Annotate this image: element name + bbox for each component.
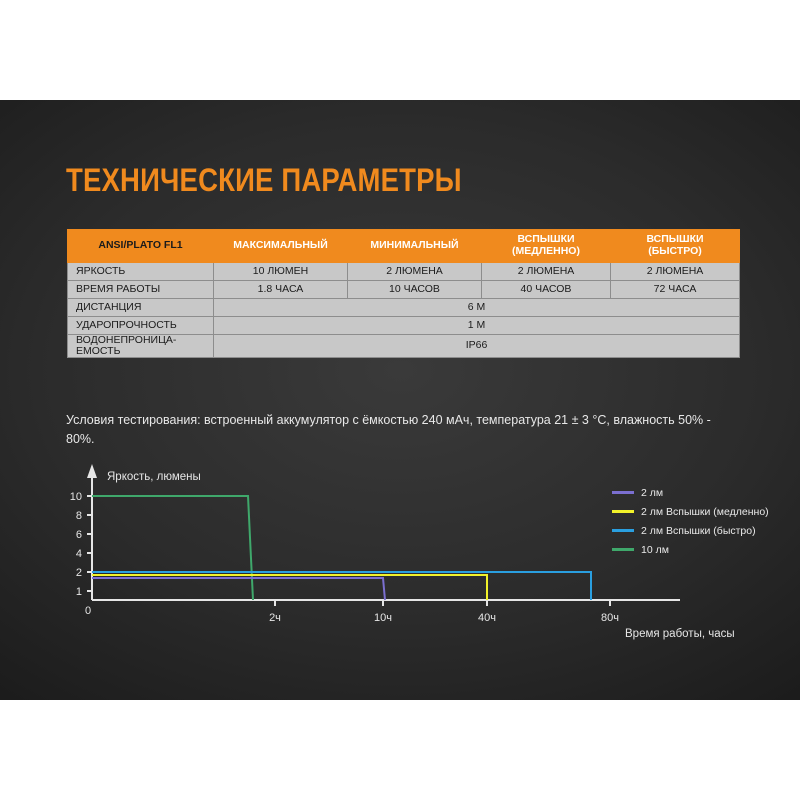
cell-runtime-min: 10 ЧАСОВ (348, 281, 482, 299)
cell-distance-value: 6 М (214, 299, 740, 317)
spec-table: ANSI/PLATO FL1 МАКСИМАЛЬНЫЙ МИНИМАЛЬНЫЙ … (67, 229, 740, 358)
legend-item-flash-fast: 2 лм Вспышки (быстро) (612, 522, 797, 539)
column-header-max-label: МАКСИМАЛЬНЫЙ (233, 239, 328, 251)
table-row: ВОДОНЕПРОНИЦА- ЕМОСТЬ IP66 (68, 335, 740, 358)
legend-swatch-icon (612, 510, 634, 513)
column-header-flash-fast: ВСПЫШКИ (БЫСТРО) (611, 230, 740, 263)
column-header-flash-slow: ВСПЫШКИ (МЕДЛЕННО) (482, 230, 611, 263)
column-header-standard: ANSI/PLATO FL1 (68, 230, 214, 263)
column-header-standard-label: ANSI/PLATO FL1 (98, 239, 182, 251)
cell-waterproof-value: IP66 (214, 335, 740, 358)
page-title: ТЕХНИЧЕСКИЕ ПАРАМЕТРЫ (66, 162, 462, 199)
cell-runtime-flash-slow: 40 ЧАСОВ (482, 281, 611, 299)
table-row: УДАРОПРОЧНОСТЬ 1 М (68, 317, 740, 335)
legend-swatch-icon (612, 491, 634, 494)
table-row: ДИСТАНЦИЯ 6 М (68, 299, 740, 317)
legend-label-2lm: 2 лм (641, 487, 663, 499)
legend-item-10lm: 10 лм (612, 541, 797, 558)
cell-brightness-max: 10 ЛЮМЕН (214, 263, 348, 281)
spec-table-head: ANSI/PLATO FL1 МАКСИМАЛЬНЫЙ МИНИМАЛЬНЫЙ … (68, 230, 740, 263)
table-header-row: ANSI/PLATO FL1 МАКСИМАЛЬНЫЙ МИНИМАЛЬНЫЙ … (68, 230, 740, 263)
legend-label-flash-slow: 2 лм Вспышки (медленно) (641, 506, 769, 518)
cell-brightness-flash-fast: 2 ЛЮМЕНА (611, 263, 740, 281)
page-root: ТЕХНИЧЕСКИЕ ПАРАМЕТРЫ ANSI/PLATO FL1 МАК… (0, 0, 800, 800)
legend-label-flash-fast: 2 лм Вспышки (быстро) (641, 525, 756, 537)
spec-table-body: ЯРКОСТЬ 10 ЛЮМЕН 2 ЛЮМЕНА 2 ЛЮМЕНА 2 ЛЮМ… (68, 263, 740, 358)
cell-runtime-max: 1.8 ЧАСА (214, 281, 348, 299)
column-header-max: МАКСИМАЛЬНЫЙ (214, 230, 348, 263)
cell-impact-value: 1 М (214, 317, 740, 335)
table-row: ВРЕМЯ РАБОТЫ 1.8 ЧАСА 10 ЧАСОВ 40 ЧАСОВ … (68, 281, 740, 299)
legend-item-flash-slow: 2 лм Вспышки (медленно) (612, 503, 797, 520)
row-label-distance: ДИСТАНЦИЯ (68, 299, 214, 317)
row-label-impact: УДАРОПРОЧНОСТЬ (68, 317, 214, 335)
cell-brightness-flash-slow: 2 ЛЮМЕНА (482, 263, 611, 281)
legend-item-2lm: 2 лм (612, 484, 797, 501)
cell-runtime-flash-fast: 72 ЧАСА (611, 281, 740, 299)
legend-label-10lm: 10 лм (641, 544, 669, 556)
test-conditions-line1: Условия тестирования: встроенный аккумул… (66, 413, 610, 427)
legend-swatch-icon (612, 548, 634, 551)
table-row: ЯРКОСТЬ 10 ЛЮМЕН 2 ЛЮМЕНА 2 ЛЮМЕНА 2 ЛЮМ… (68, 263, 740, 281)
cell-brightness-min: 2 ЛЮМЕНА (348, 263, 482, 281)
column-header-flash-fast-sublabel: (БЫСТРО) (611, 246, 739, 258)
row-label-runtime: ВРЕМЯ РАБОТЫ (68, 281, 214, 299)
row-label-waterproof: ВОДОНЕПРОНИЦА- ЕМОСТЬ (68, 335, 214, 358)
row-label-brightness: ЯРКОСТЬ (68, 263, 214, 281)
row-label-waterproof-line2: ЕМОСТЬ (76, 346, 213, 357)
column-header-min-label: МИНИМАЛЬНЫЙ (370, 239, 458, 251)
legend-swatch-icon (612, 529, 634, 532)
chart-legend: 2 лм 2 лм Вспышки (медленно) 2 лм Вспышк… (612, 484, 797, 560)
column-header-min: МИНИМАЛЬНЫЙ (348, 230, 482, 263)
column-header-flash-slow-sublabel: (МЕДЛЕННО) (482, 246, 610, 258)
test-conditions-note: Условия тестирования: встроенный аккумул… (66, 411, 738, 449)
